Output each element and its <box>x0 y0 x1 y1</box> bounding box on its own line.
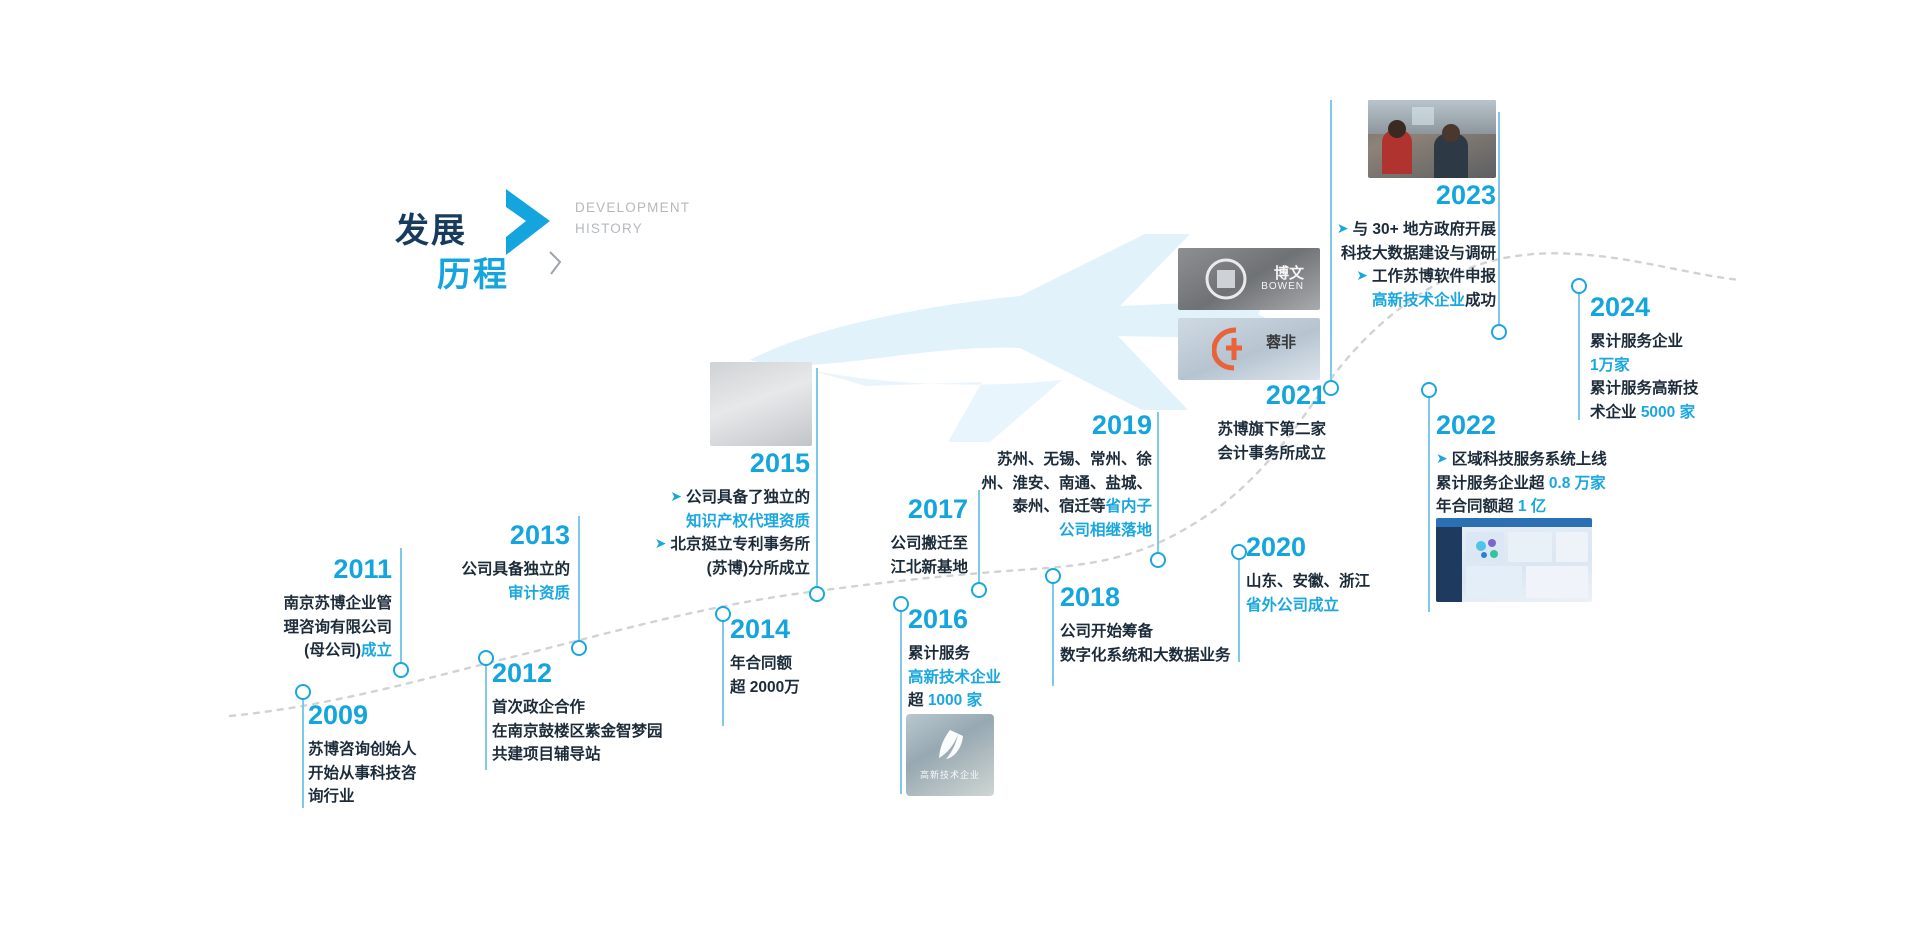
milestone-text-line: 累计服务企业 <box>1590 330 1699 354</box>
milestone-text-segment: 区域科技服务系统上线 <box>1452 451 1607 468</box>
milestone-text-line: 询行业 <box>308 785 417 809</box>
stem-2022 <box>1428 390 1430 612</box>
title-en: DEVELOPMENT HISTORY <box>575 197 690 239</box>
milestone-text-segment: 开始从事科技咨 <box>308 765 417 782</box>
milestone-year: 2017 <box>890 496 968 523</box>
arrow-bullet-icon: ➤ <box>1436 447 1448 471</box>
milestone-text-line: 超 2000万 <box>730 676 800 700</box>
node-2024[interactable] <box>1571 278 1587 294</box>
milestone-text-line: 高新技术企业成功 <box>1337 289 1496 313</box>
node-2018[interactable] <box>1045 568 1061 584</box>
milestone-2009[interactable]: 2009 苏博咨询创始人开始从事科技咨询行业 <box>308 702 417 809</box>
node-2016[interactable] <box>893 596 909 612</box>
node-2009[interactable] <box>295 684 311 700</box>
milestone-text-line: 知识产权代理资质 <box>655 510 810 534</box>
photo-2021-bowen-caption: 博文 <box>1274 262 1304 283</box>
milestone-text-line: 南京苏博企业管 <box>283 592 392 616</box>
milestone-2024[interactable]: 2024 累计服务企业1万家累计服务高新技术企业 5000 家 <box>1590 294 1699 424</box>
milestone-text-line: 审计资质 <box>461 582 570 606</box>
milestone-text-segment: 山东、安徽、浙江 <box>1246 573 1370 590</box>
milestone-text-segment: 1000 家 <box>928 692 982 709</box>
milestone-text-segment: 州、淮安、南通、盐城、 <box>981 475 1152 492</box>
photo-2021-bowen-sign: 博文 BOWEN <box>1178 248 1320 310</box>
milestone-text-line: 泰州、宿迁等省内子 <box>981 495 1152 519</box>
milestone-text-segment: 数字化系统和大数据业务 <box>1060 647 1231 664</box>
milestone-2020[interactable]: 2020 山东、安徽、浙江省外公司成立 <box>1246 534 1370 617</box>
milestone-text-line: 数字化系统和大数据业务 <box>1060 644 1231 668</box>
milestone-lines: 公司开始筹备数字化系统和大数据业务 <box>1060 620 1231 667</box>
milestone-text-segment: 公司相继落地 <box>1059 522 1152 539</box>
milestone-text-segment: 泰州、宿迁等 <box>1012 498 1105 515</box>
stem-2023 <box>1498 112 1500 324</box>
milestone-year: 2020 <box>1246 534 1370 561</box>
page-title: 发展 历程 DEVELOPMENT HISTORY <box>395 175 695 295</box>
milestone-text-segment: 在南京鼓楼区紫金智梦园 <box>492 723 663 740</box>
milestone-text-segment: 成立 <box>361 642 392 659</box>
milestone-year: 2015 <box>655 450 810 477</box>
milestone-text-segment: 与 30+ 地方政府开展 <box>1353 221 1496 238</box>
node-2020[interactable] <box>1231 544 1247 560</box>
milestone-text-line: ➤北京挺立专利事务所 <box>655 533 810 557</box>
title-en-line2: HISTORY <box>575 218 690 239</box>
milestone-text-line: 苏州、无锡、常州、徐 <box>981 448 1152 472</box>
milestone-lines: 累计服务高新技术企业超 1000 家 <box>908 642 1001 713</box>
milestone-text-segment: 高新技术企业 <box>1372 292 1465 309</box>
milestone-text-line: 年合同额 <box>730 652 800 676</box>
milestone-lines: 苏博咨询创始人开始从事科技咨询行业 <box>308 738 417 809</box>
node-2023[interactable] <box>1491 324 1507 340</box>
node-2022[interactable] <box>1421 382 1437 398</box>
milestone-text-segment: 年合同额超 <box>1436 498 1518 515</box>
photo-2023-meeting <box>1368 100 1496 178</box>
milestone-text-segment: 累计服务 <box>908 645 970 662</box>
stem-2011 <box>400 548 402 670</box>
milestone-text-segment: 科技大数据建设与调研 <box>1341 245 1496 262</box>
milestone-text-line: 江北新基地 <box>890 556 968 580</box>
milestone-text-line: 1万家 <box>1590 354 1699 378</box>
milestone-year: 2009 <box>308 702 417 729</box>
milestone-text-segment: 累计服务企业 <box>1590 333 1683 350</box>
milestone-year: 2019 <box>981 412 1152 439</box>
milestone-text-line: 公司具备独立的 <box>461 558 570 582</box>
milestone-text-line: 首次政企合作 <box>492 696 663 720</box>
milestone-text-segment: 询行业 <box>308 788 355 805</box>
arrow-bullet-icon: ➤ <box>1356 264 1368 288</box>
photo-2021-accounting-caption: 蓉非 <box>1266 331 1296 352</box>
milestone-2016[interactable]: 2016 累计服务高新技术企业超 1000 家 <box>908 606 1001 713</box>
milestone-text-line: ➤工作苏博软件申报 <box>1337 265 1496 289</box>
milestone-lines: 苏州、无锡、常州、徐州、淮安、南通、盐城、泰州、宿迁等省内子公司相继落地 <box>981 448 1152 542</box>
stem-2020 <box>1238 552 1240 662</box>
stem-2009 <box>302 692 304 808</box>
timeline-canvas: 发展 历程 DEVELOPMENT HISTORY <box>0 0 1920 951</box>
milestone-lines: 苏博旗下第二家会计事务所成立 <box>1217 418 1326 465</box>
milestone-text-segment: 超 2000万 <box>730 679 800 696</box>
milestone-lines: ➤公司具备了独立的知识产权代理资质➤北京挺立专利事务所(苏博)分所成立 <box>655 486 810 580</box>
stem-2014 <box>722 614 724 726</box>
milestone-text-line: 山东、安徽、浙江 <box>1246 570 1370 594</box>
photo-2021-accounting-sign: 蓉非 <box>1178 318 1320 380</box>
stem-2021 <box>1330 100 1332 388</box>
growth-curve <box>0 0 1920 951</box>
milestone-lines: 南京苏博企业管理咨询有限公司(母公司)成立 <box>283 592 392 663</box>
milestone-text-segment: 累计服务企业超 <box>1436 475 1549 492</box>
milestone-text-segment: 苏州、无锡、常州、徐 <box>997 451 1152 468</box>
milestone-text-segment: 工作苏博软件申报 <box>1372 268 1496 285</box>
milestone-text-line: 苏博咨询创始人 <box>308 738 417 762</box>
milestone-text-segment: 省内子 <box>1105 498 1152 515</box>
stem-2017 <box>978 490 980 590</box>
milestone-text-line: 苏博旗下第二家 <box>1217 418 1326 442</box>
milestone-lines: ➤与 30+ 地方政府开展科技大数据建设与调研➤工作苏博软件申报高新技术企业成功 <box>1337 218 1496 312</box>
milestone-text-line: 超 1000 家 <box>908 689 1001 713</box>
milestone-text-segment: 南京苏博企业管 <box>283 595 392 612</box>
milestone-lines: 累计服务企业1万家累计服务高新技术企业 5000 家 <box>1590 330 1699 424</box>
milestone-text-segment: (母公司) <box>304 642 361 659</box>
photo-2015-device <box>710 362 812 446</box>
milestone-text-segment: 年合同额 <box>730 655 792 672</box>
milestone-year: 2021 <box>1217 382 1326 409</box>
milestone-text-line: 科技大数据建设与调研 <box>1337 242 1496 266</box>
milestone-2017[interactable]: 2017 公司搬迁至江北新基地 <box>890 496 968 579</box>
milestone-text-line: 公司相继落地 <box>981 519 1152 543</box>
chevron-right-icon <box>500 187 556 259</box>
milestone-text-line: 会计事务所成立 <box>1217 442 1326 466</box>
stem-2013 <box>578 516 580 648</box>
stem-2019 <box>1157 412 1159 560</box>
milestone-text-segment: 成功 <box>1465 292 1496 309</box>
milestone-text-segment: 1万家 <box>1590 357 1630 374</box>
photo-2016-certificate: 高新技术企业 <box>906 714 994 796</box>
milestone-text-line: ➤与 30+ 地方政府开展 <box>1337 218 1496 242</box>
title-cn-line1: 发展 <box>395 203 467 252</box>
milestone-text-segment: 5000 家 <box>1641 404 1695 421</box>
milestone-text-segment: 苏博旗下第二家 <box>1217 421 1326 438</box>
milestone-2018[interactable]: 2018 公司开始筹备数字化系统和大数据业务 <box>1060 584 1231 667</box>
arrow-bullet-icon: ➤ <box>670 485 682 509</box>
milestone-year: 2018 <box>1060 584 1231 611</box>
milestone-text-segment: 公司具备了独立的 <box>686 489 810 506</box>
milestone-year: 2011 <box>283 556 392 583</box>
milestone-text-segment: 超 <box>908 692 928 709</box>
milestone-text-line: 累计服务企业超 0.8 万家 <box>1436 472 1607 496</box>
milestone-text-segment: 苏博咨询创始人 <box>308 741 417 758</box>
milestone-2019[interactable]: 2019 苏州、无锡、常州、徐州、淮安、南通、盐城、泰州、宿迁等省内子公司相继落… <box>981 412 1152 542</box>
milestone-2015[interactable]: 2015 ➤公司具备了独立的知识产权代理资质➤北京挺立专利事务所(苏博)分所成立 <box>655 450 810 580</box>
milestone-text-line: 开始从事科技咨 <box>308 762 417 786</box>
milestone-text-line: 年合同额超 1 亿 <box>1436 495 1607 519</box>
milestone-year: 2023 <box>1337 182 1496 209</box>
stem-2012 <box>485 658 487 770</box>
milestone-year: 2014 <box>730 616 800 643</box>
milestone-text-line: 累计服务 <box>908 642 1001 666</box>
milestone-2012[interactable]: 2012 首次政企合作在南京鼓楼区紫金智梦园共建项目辅导站 <box>492 660 663 767</box>
milestone-year: 2024 <box>1590 294 1699 321</box>
milestone-text-line: ➤区域科技服务系统上线 <box>1436 448 1607 472</box>
milestone-text-segment: 术企业 <box>1590 404 1641 421</box>
milestone-2011[interactable]: 2011 南京苏博企业管理咨询有限公司(母公司)成立 <box>283 556 392 663</box>
milestone-text-segment: 0.8 万家 <box>1549 475 1606 492</box>
milestone-text-line: ➤公司具备了独立的 <box>655 486 810 510</box>
milestone-text-segment: 公司开始筹备 <box>1060 623 1153 640</box>
milestone-lines: 公司搬迁至江北新基地 <box>890 532 968 579</box>
milestone-lines: 年合同额超 2000万 <box>730 652 800 699</box>
milestone-2023[interactable]: 2023 ➤与 30+ 地方政府开展科技大数据建设与调研➤工作苏博软件申报高新技… <box>1337 182 1496 312</box>
milestone-text-segment: 北京挺立专利事务所 <box>670 536 810 553</box>
milestone-lines: 公司具备独立的审计资质 <box>461 558 570 605</box>
milestone-text-line: 在南京鼓楼区紫金智梦园 <box>492 720 663 744</box>
milestone-text-segment: 江北新基地 <box>890 559 968 576</box>
arrow-bullet-icon: ➤ <box>1337 217 1349 241</box>
title-en-line1: DEVELOPMENT <box>575 197 690 218</box>
milestone-text-segment: 省外公司成立 <box>1246 597 1339 614</box>
milestone-text-segment: 累计服务高新技 <box>1590 380 1699 397</box>
stem-2024 <box>1578 286 1580 420</box>
node-2011[interactable] <box>393 662 409 678</box>
milestone-year: 2022 <box>1436 412 1607 439</box>
photo-2016-caption: 高新技术企业 <box>906 768 994 781</box>
milestone-text-segment: 1 亿 <box>1518 498 1546 515</box>
arrow-bullet-icon: ➤ <box>655 532 667 556</box>
milestone-text-segment: 首次政企合作 <box>492 699 585 716</box>
node-2019[interactable] <box>1150 552 1166 568</box>
milestone-2013[interactable]: 2013 公司具备独立的审计资质 <box>461 522 570 605</box>
milestone-text-line: 高新技术企业 <box>908 666 1001 690</box>
milestone-text-line: 公司搬迁至 <box>890 532 968 556</box>
milestone-text-segment: 共建项目辅导站 <box>492 746 601 763</box>
milestone-2014[interactable]: 2014 年合同额超 2000万 <box>730 616 800 699</box>
milestone-text-line: 共建项目辅导站 <box>492 743 663 767</box>
milestone-text-segment: 审计资质 <box>508 585 570 602</box>
photo-2022-dashboard <box>1436 518 1592 602</box>
milestone-year: 2013 <box>461 522 570 549</box>
chevron-right-small-icon <box>547 250 563 276</box>
milestone-text-segment: 公司搬迁至 <box>890 535 968 552</box>
title-cn-line2: 历程 <box>437 247 509 296</box>
node-2015[interactable] <box>809 586 825 602</box>
milestone-text-line: (苏博)分所成立 <box>655 557 810 581</box>
milestone-lines: ➤区域科技服务系统上线累计服务企业超 0.8 万家年合同额超 1 亿 <box>1436 448 1607 519</box>
milestone-year: 2012 <box>492 660 663 687</box>
milestone-text-line: 理咨询有限公司 <box>283 616 392 640</box>
node-2014[interactable] <box>715 606 731 622</box>
node-2013[interactable] <box>571 640 587 656</box>
milestone-text-segment: 高新技术企业 <box>908 669 1001 686</box>
milestone-text-segment: 理咨询有限公司 <box>283 619 392 636</box>
milestone-text-line: 术企业 5000 家 <box>1590 401 1699 425</box>
node-2017[interactable] <box>971 582 987 598</box>
milestone-2022[interactable]: 2022 ➤区域科技服务系统上线累计服务企业超 0.8 万家年合同额超 1 亿 <box>1436 412 1607 519</box>
photo-2021-bowen-subcaption: BOWEN <box>1261 281 1304 292</box>
milestone-text-segment: 知识产权代理资质 <box>686 513 810 530</box>
milestone-text-line: 累计服务高新技 <box>1590 377 1699 401</box>
milestone-text-line: 省外公司成立 <box>1246 594 1370 618</box>
milestone-text-segment: (苏博)分所成立 <box>707 560 810 577</box>
stem-2015 <box>816 368 818 594</box>
milestone-text-line: 公司开始筹备 <box>1060 620 1231 644</box>
milestone-text-line: 州、淮安、南通、盐城、 <box>981 472 1152 496</box>
stem-2016 <box>900 604 902 794</box>
stem-2018 <box>1052 576 1054 686</box>
milestone-year: 2016 <box>908 606 1001 633</box>
milestone-text-segment: 会计事务所成立 <box>1217 445 1326 462</box>
milestone-text-line: (母公司)成立 <box>283 639 392 663</box>
milestone-lines: 首次政企合作在南京鼓楼区紫金智梦园共建项目辅导站 <box>492 696 663 767</box>
milestone-text-segment: 公司具备独立的 <box>461 561 570 578</box>
milestone-lines: 山东、安徽、浙江省外公司成立 <box>1246 570 1370 617</box>
milestone-2021[interactable]: 2021 苏博旗下第二家会计事务所成立 <box>1217 382 1326 465</box>
